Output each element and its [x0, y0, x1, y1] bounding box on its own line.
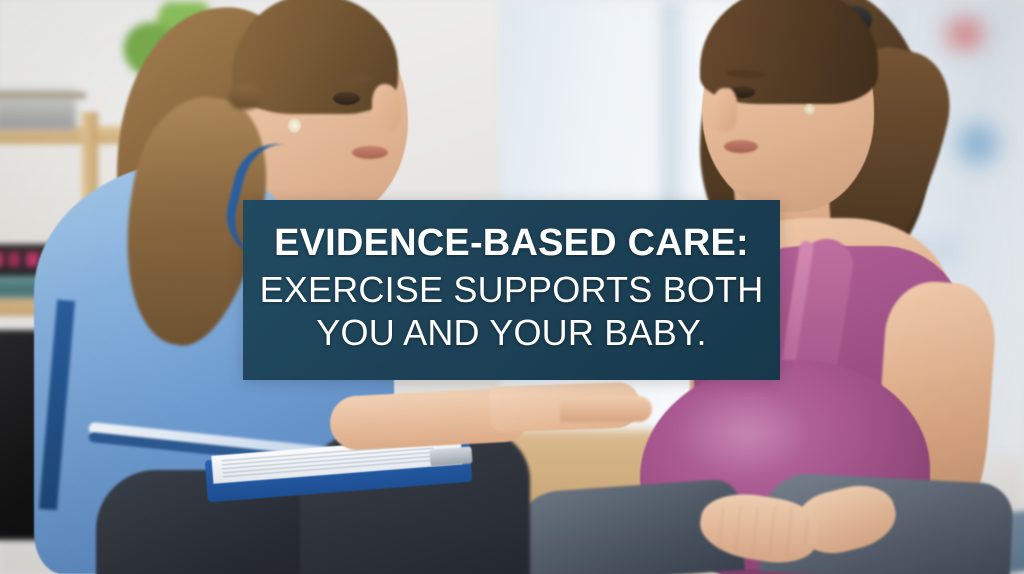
- therapist-lips: [352, 146, 388, 159]
- wall-poster-red: [936, 8, 994, 60]
- client-lips: [724, 140, 758, 153]
- wall-poster-blue: [946, 112, 1010, 176]
- therapist-hair-tie: [228, 84, 262, 110]
- client-fingers: [706, 506, 810, 554]
- shelf-object-bar: [0, 92, 86, 99]
- caption-line-3: YOU AND YOUR BABY.: [316, 314, 706, 353]
- client-nose: [711, 88, 737, 132]
- clipboard-clip-icon: [429, 446, 472, 466]
- caption-line-2: EXERCISE SUPPORTS BOTH: [260, 271, 764, 310]
- therapist-fingers: [560, 396, 652, 422]
- banner-image: EVIDENCE-BASED CARE: EXERCISE SUPPORTS B…: [0, 0, 1024, 574]
- client-belly-highlight: [672, 388, 812, 478]
- client-earring: [804, 104, 815, 115]
- caption-overlay: EVIDENCE-BASED CARE: EXERCISE SUPPORTS B…: [243, 200, 780, 380]
- caption-line-1: EVIDENCE-BASED CARE:: [274, 223, 749, 264]
- therapist-earring: [288, 118, 301, 133]
- therapist-eye: [333, 92, 360, 105]
